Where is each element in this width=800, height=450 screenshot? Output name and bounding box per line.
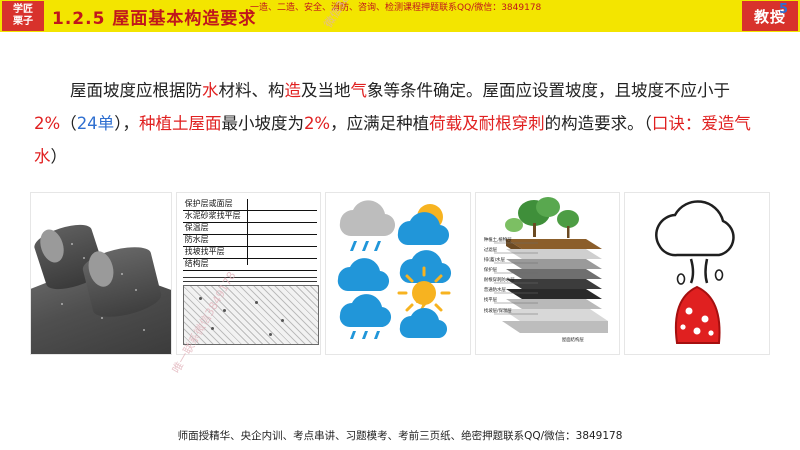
text-seg-2: 材料、构 [219,81,285,100]
figure-weather-icons [325,192,471,355]
layer-label: 保护层或面层 [185,198,233,209]
content-paragraph: 屋面坡度应根据防水材料、构造及当地气象等条件确定。屋面应设置坡度，且坡度不应小于… [34,74,770,173]
text-seg-4: 象等条件确定。屋面应设置坡度，且坡 [367,81,648,100]
text-seg-24dan: 24单 [77,114,115,133]
weather-icon-set [326,193,471,354]
roof-layer-label: 找平层 [484,297,497,303]
footer-bar: 师面授精华、央企内训、考点串讲、习题模考、考前三页纸、绝密押题联系QQ/微信：3… [0,422,800,450]
text-seg-11: 造要求。（ [578,114,652,133]
footer-promo-text: 师面授精华、央企内训、考点串讲、习题模考、考前三页纸、绝密押题联系QQ/微信：3… [0,428,800,443]
rain-cloud-icon [340,294,391,339]
brand-logo-left: 学匠 栗子 [2,1,44,31]
text-seg-5: 度不应小于 [648,81,731,100]
figure-membrane-rolls [30,192,172,355]
text-seg-pct2: 2% [304,114,330,133]
layer-label: 防水层 [185,234,209,245]
layer-row: 结构层 [183,259,317,271]
layer-label: 保温层 [185,222,209,233]
text-seg-3: 及当地 [301,81,351,100]
roof-layer-label: 屋面结构层 [562,337,584,343]
text-seg-6: （ [60,114,77,133]
roof-planting-icon [505,197,579,238]
page-number: 5 [779,2,788,17]
text-seg-8: 最小坡度为 [221,114,304,133]
water-fountain-icon [625,193,770,354]
text-seg-load: 荷载及耐根穿刺 [429,114,545,133]
cloud-icon [338,258,389,291]
header-bar: 学匠 栗子 1.2.5 屋面基本构造要求 一造、二造、安全、消防、咨询、检测课程… [0,0,800,32]
page-title: 1.2.5 屋面基本构造要求 [52,4,256,29]
layer-label: 水泥砂浆找平层 [185,210,241,221]
roof-layer-label: 找坡层/保温层 [484,308,512,314]
roof-layer-label: 耐根穿刺防水层 [484,277,515,283]
figure-green-roof-stack: 种植土,植物层 过滤层 排(蓄)水层 保护层 耐根穿刺防水层 普通防水层 找平层… [475,192,621,355]
text-seg-qi: 气 [351,81,368,100]
brand-logo-left-line1: 学匠 [13,4,33,16]
brand-logo-right: 教授 [742,1,798,31]
layer-stack: 保护层或面层 水泥砂浆找平层 保温层 防水层 找坡找平层 结构层 [183,199,317,271]
figure-row: 保护层或面层 水泥砂浆找平层 保温层 防水层 找坡找平层 结构层 [30,192,770,355]
roof-layer-label: 排(蓄)水层 [484,257,505,263]
layer-label: 找坡找平层 [185,246,225,257]
text-seg-1: 屋面坡度应根据防 [70,81,202,100]
brand-logo-left-line2: 栗子 [13,16,33,28]
roof-layer-label: 种植土,植物层 [484,237,512,243]
green-roof-diagram [476,193,621,354]
header-promo-note: 一造、二造、安全、消防、咨询、检测课程押题联系QQ/微信：3849178 [250,3,670,14]
text-seg-7: ）， [114,114,139,133]
text-seg-pct1: 2% [34,114,60,133]
text-seg-planting-roof: 种植土屋面 [139,114,222,133]
text-seg-9: ，应满足种植 [330,114,429,133]
text-seg-12: ） [51,147,68,166]
figure-fountain [624,192,770,355]
figure-layer-diagram: 保护层或面层 水泥砂浆找平层 保温层 防水层 找坡找平层 结构层 [176,192,322,355]
roof-layer-label: 普通防水层 [484,287,506,293]
concrete-hatch [183,285,319,345]
rain-cloud-icon [340,200,395,251]
text-seg-water: 水 [202,81,219,100]
text-seg-zao: 造 [285,81,302,100]
text-seg-10: 的构 [545,114,578,133]
layer-label: 结构层 [185,258,209,269]
sun-behind-cloud-icon [398,204,449,245]
cloud-icon [400,308,447,338]
roof-layer-label: 保护层 [484,267,497,273]
roof-layer-label: 过滤层 [484,247,497,253]
